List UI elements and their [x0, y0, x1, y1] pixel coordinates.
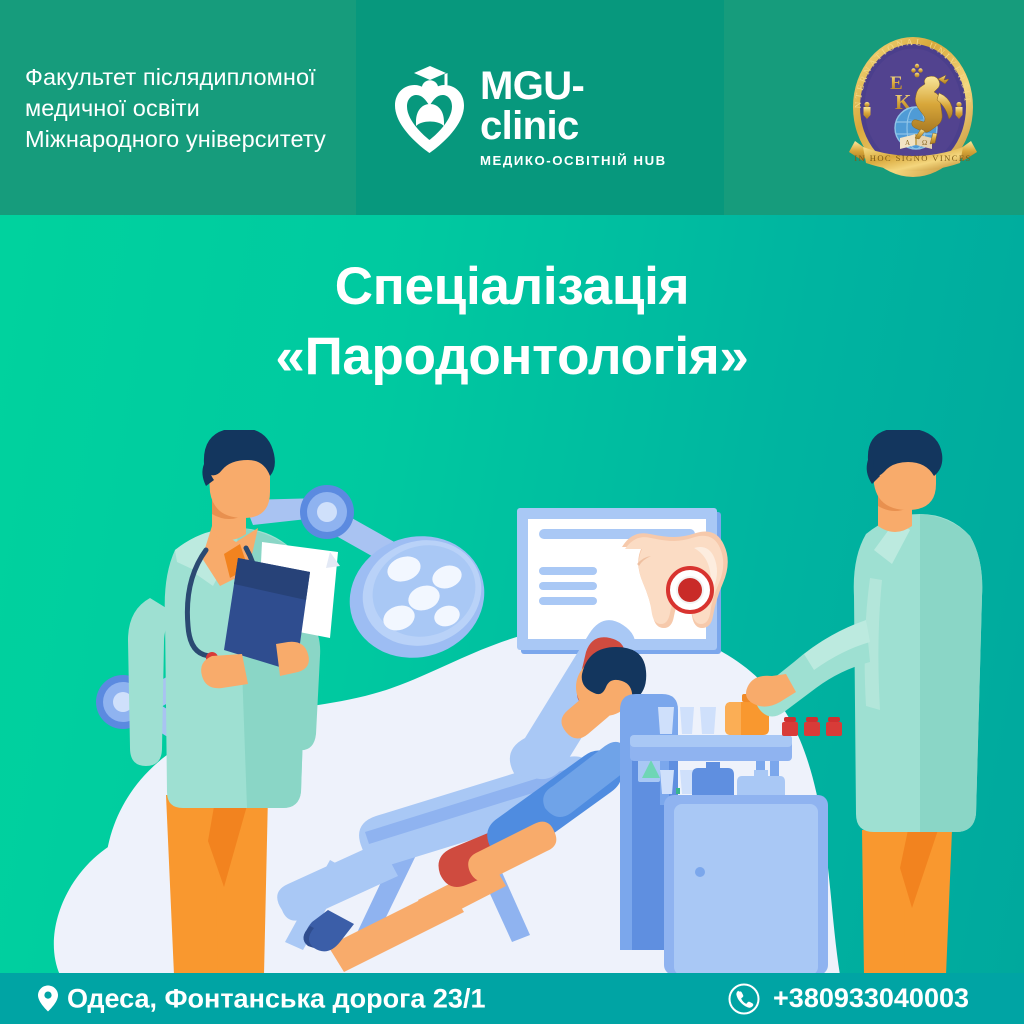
seal-motto: IN HOC SIGNO VINCES — [854, 153, 971, 163]
page-title-line2: «Пародонтологія» — [0, 322, 1024, 392]
cart-glassware — [658, 707, 716, 734]
phone-circle-icon — [728, 983, 760, 1015]
brand-name: MGU-clinic — [480, 66, 682, 146]
phone-block[interactable]: +380933040003 — [728, 983, 969, 1015]
heart-graduate-icon — [392, 60, 466, 156]
red-vials — [782, 717, 842, 736]
university-seal: INTERNATIONAL UNIVERSITY E K — [843, 33, 983, 185]
address-block: Одеса, Фонтанська дорога 23/1 — [38, 983, 485, 1014]
location-pin-icon — [38, 986, 58, 1012]
svg-text:A: A — [905, 139, 910, 147]
dental-clinic-illustration — [0, 430, 1024, 975]
header-bar: Факультет післядипломної медичної освіти… — [0, 0, 1024, 215]
brand-logo-text: MGU-clinic МЕДИКО-ОСВІТНІЙ HUB — [480, 66, 682, 167]
phone-text: +380933040003 — [773, 983, 969, 1014]
svg-text:Ω: Ω — [922, 139, 927, 147]
page-title-line1: Спеціалізація — [335, 257, 689, 316]
address-text: Одеса, Фонтанська дорога 23/1 — [67, 983, 485, 1014]
faculty-name: Факультет післядипломної медичної освіти… — [25, 62, 335, 155]
brand-logo: MGU-clinic МЕДИКО-ОСВІТНІЙ HUB — [392, 60, 682, 160]
brand-tagline: МЕДИКО-ОСВІТНІЙ HUB — [480, 154, 682, 167]
page-title: Спеціалізація «Пародонтологія» — [0, 252, 1024, 393]
screen-text-lines — [539, 567, 597, 605]
footer-bar: Одеса, Фонтанська дорога 23/1 +380933040… — [0, 973, 1024, 1024]
poster-canvas: Факультет післядипломної медичної освіти… — [0, 0, 1024, 1024]
instrument-cart — [617, 694, 842, 975]
